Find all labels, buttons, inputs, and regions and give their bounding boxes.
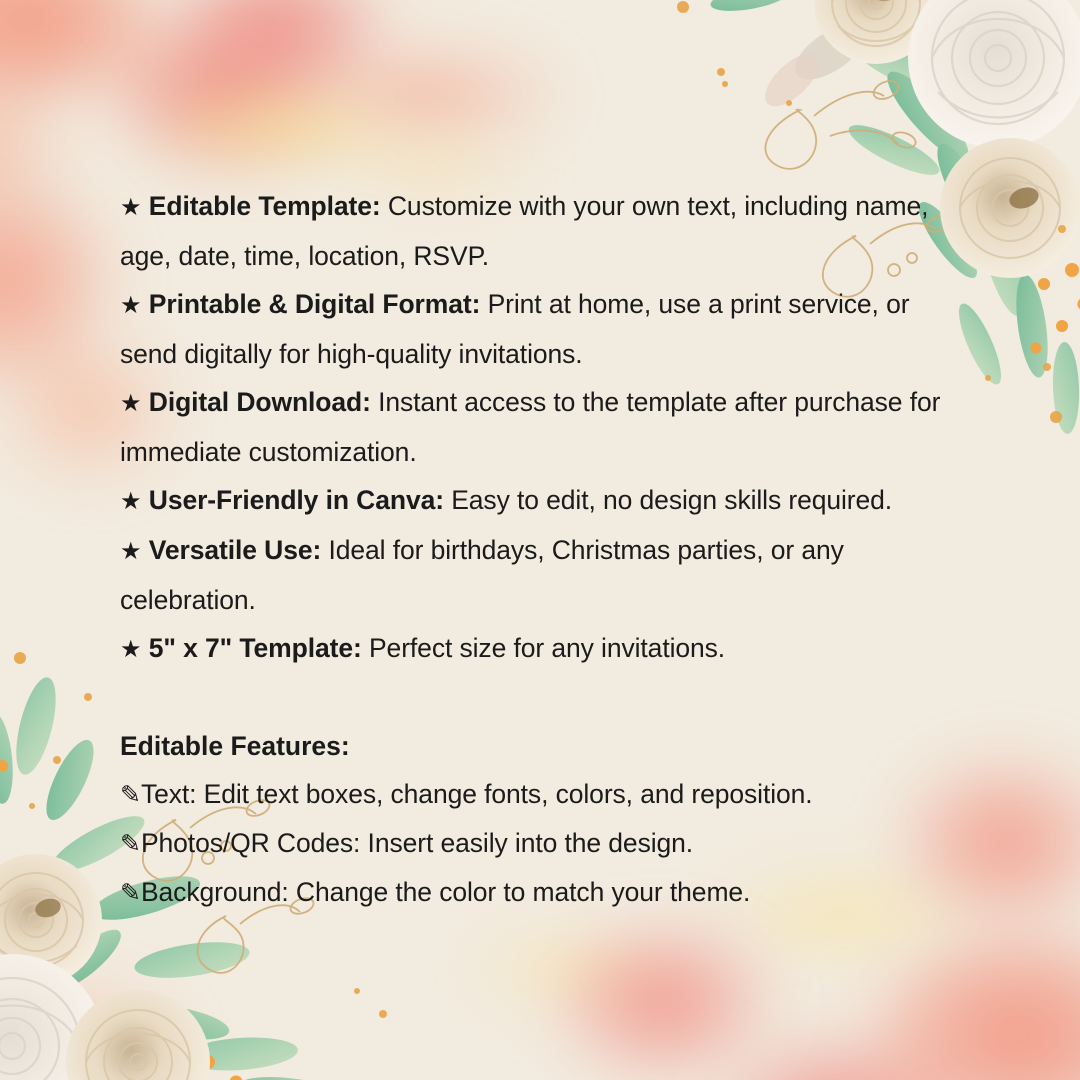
listing-description: ★ Editable Template: Customize with your… [120,182,965,917]
editable-feature-item: ✎Photos/QR Codes: Insert easily into the… [120,819,965,868]
feature-bullet-text: Perfect size for any invitations. [362,633,725,663]
feature-bullet-label: User-Friendly in Canva: [149,485,444,515]
star-icon: ★ [120,390,142,417]
watercolor-wash-bottom-left [0,890,270,1080]
feature-bullet: ★ Versatile Use: Ideal for birthdays, Ch… [120,526,965,624]
feature-bullet: ★ Printable & Digital Format: Print at h… [120,280,965,378]
feature-bullet-label: Editable Template: [149,191,381,221]
feature-bullet-label: Versatile Use: [149,535,321,565]
editable-feature-text: Text: Edit text boxes, change fonts, col… [141,779,813,809]
feature-bullet-label: Printable & Digital Format: [149,289,481,319]
pencil-icon: ✎ [120,879,141,907]
editable-feature-item: ✎Background: Change the color to match y… [120,868,965,917]
feature-bullet: ★ Editable Template: Customize with your… [120,182,965,280]
feature-bullet: ★ Digital Download: Instant access to th… [120,378,965,476]
feature-bullet-text: Easy to edit, no design skills required. [444,485,892,515]
feature-bullet-label: Digital Download: [149,387,371,417]
star-icon: ★ [120,538,142,565]
editable-feature-text: Background: Change the color to match yo… [141,877,750,907]
star-icon: ★ [120,636,142,663]
editable-feature-text: Photos/QR Codes: Insert easily into the … [141,828,693,858]
feature-bullet: ★ User-Friendly in Canva: Easy to edit, … [120,476,965,526]
pencil-icon: ✎ [120,830,141,858]
star-icon: ★ [120,488,142,515]
editable-feature-item: ✎Text: Edit text boxes, change fonts, co… [120,770,965,819]
feature-bullet: ★ 5" x 7" Template: Perfect size for any… [120,624,965,674]
editable-features-heading: Editable Features: [120,722,965,770]
star-icon: ★ [120,292,142,319]
feature-bullet-label: 5" x 7" Template: [149,633,362,663]
star-icon: ★ [120,194,142,221]
invitation-listing-card: ★ Editable Template: Customize with your… [0,0,1080,1080]
pencil-icon: ✎ [120,781,141,809]
